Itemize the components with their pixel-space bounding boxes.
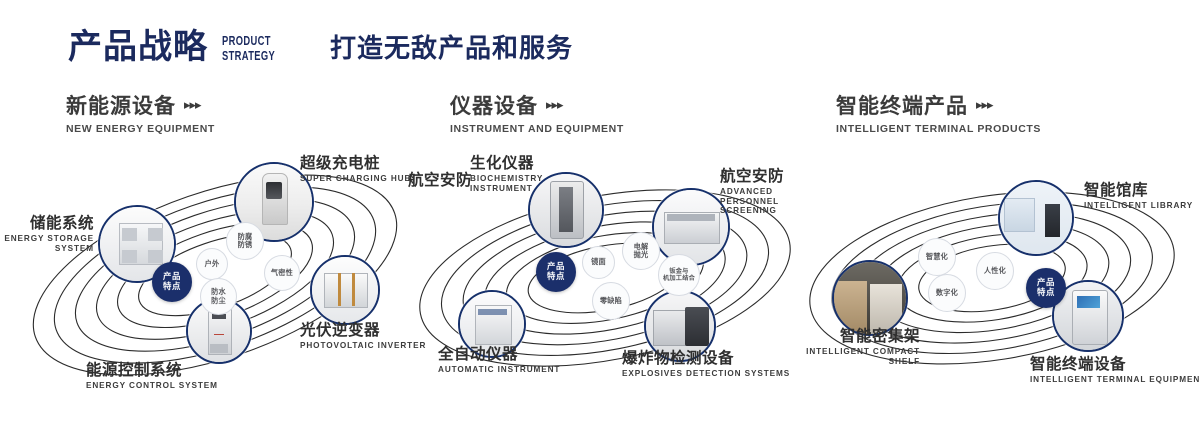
- label-intelligent-library: 智能馆库 INTELLIGENT LIBRARY: [1084, 182, 1193, 211]
- group-instruments: 航空安防 生化仪器 BIOCHEMISTRY INSTRUMENT 航空安防 A…: [400, 150, 820, 400]
- group-new-energy: 储能系统 ENERGY STORAGE SYSTEM 超级充电桩 SUPER C…: [0, 150, 430, 400]
- label-cn: 能源控制系统: [86, 362, 218, 379]
- label-en: AUTOMATIC INSTRUMENT: [438, 365, 560, 374]
- label-cn: 智能馆库: [1084, 182, 1193, 199]
- label-en: INTELLIGENT COMPACT SHELF: [796, 347, 920, 365]
- photovoltaic-inverter-photo: [312, 257, 378, 323]
- feature-line2: 抛光: [634, 250, 649, 259]
- label-automatic-instrument: 全自动仪器 AUTOMATIC INSTRUMENT: [438, 346, 560, 375]
- page-subtitle: 打造无敌产品和服务: [330, 36, 573, 62]
- label-cn: 生化仪器: [470, 155, 542, 172]
- label-en: INTELLIGENT LIBRARY: [1084, 201, 1193, 210]
- node-photovoltaic-inverter[interactable]: [310, 255, 380, 325]
- feature-line1: 户外: [205, 259, 220, 268]
- product-strategy-infographic: 产品战略 PRODUCT STRATEGY 打造无敌产品和服务 新能源设备▸▸▸…: [0, 0, 1200, 422]
- label-biochemistry-instrument: 生化仪器 BIOCHEMISTRY INSTRUMENT: [470, 155, 542, 193]
- label-en: INTELLIGENT TERMINAL EQUIPMENT: [1030, 375, 1200, 384]
- node-intelligent-compact-shelf[interactable]: [832, 260, 908, 336]
- section-title-new-energy: 新能源设备▸▸▸ NEW ENERGY EQUIPMENT: [66, 96, 215, 135]
- feature-line1: 气密性: [271, 268, 293, 277]
- page-title-english: PRODUCT STRATEGY: [222, 33, 275, 64]
- label-cn: 智能密集架: [796, 328, 920, 345]
- label-en: EXPLOSIVES DETECTION SYSTEMS: [622, 369, 790, 378]
- label-intelligent-terminal-equipment: 智能终端设备 INTELLIGENT TERMINAL EQUIPMENT: [1030, 356, 1200, 385]
- label-cn: 航空安防: [408, 172, 472, 189]
- feature-bubble-sheet-metal-machining[interactable]: 钣金与 机加工结合: [658, 254, 700, 296]
- label-aviation-security-left: 航空安防: [408, 172, 472, 189]
- feature-bubble-mirror-finish[interactable]: 镜面: [582, 246, 615, 279]
- section-title-en: INSTRUMENT AND EQUIPMENT: [450, 123, 624, 135]
- chevron-right-icon: ▸▸▸: [546, 97, 563, 113]
- section-title-cn: 仪器设备: [450, 96, 538, 117]
- chevron-right-icon: ▸▸▸: [976, 97, 993, 113]
- core-line2: 特点: [547, 271, 565, 281]
- feature-line2: 防锈: [238, 240, 253, 249]
- section-title-en: INTELLIGENT TERMINAL PRODUCTS: [836, 123, 1041, 135]
- label-cn: 爆炸物检测设备: [622, 350, 790, 367]
- core-line2: 特点: [163, 281, 181, 291]
- feature-bubble-anticorrosion[interactable]: 防腐 防锈: [226, 222, 264, 260]
- feature-bubble-digitalization[interactable]: 数字化: [928, 274, 966, 312]
- label-energy-storage-system: 储能系统 ENERGY STORAGE SYSTEM: [0, 215, 94, 253]
- personnel-screening-photo: [654, 190, 728, 264]
- label-en: BIOCHEMISTRY INSTRUMENT: [470, 174, 542, 192]
- feature-bubble-waterproof-dustproof[interactable]: 防水 防尘: [200, 278, 237, 315]
- feature-line2: 机加工结合: [663, 275, 695, 282]
- core-line1: 产品: [163, 271, 181, 281]
- label-cn: 储能系统: [0, 215, 94, 232]
- feature-core-product-highlights[interactable]: 产品 特点: [1026, 268, 1066, 308]
- feature-line2: 防尘: [211, 296, 226, 305]
- label-en: ENERGY CONTROL SYSTEM: [86, 381, 218, 390]
- feature-bubble-outdoor[interactable]: 户外: [196, 248, 228, 280]
- core-line1: 产品: [1037, 277, 1055, 287]
- core-line1: 产品: [547, 261, 565, 271]
- chevron-right-icon: ▸▸▸: [184, 97, 201, 113]
- feature-line1: 零缺陷: [600, 296, 622, 305]
- group-intelligent-terminal: 智能馆库 INTELLIGENT LIBRARY 智能密集架 INTELLIGE…: [800, 150, 1200, 400]
- label-intelligent-compact-shelf: 智能密集架 INTELLIGENT COMPACT SHELF: [796, 328, 920, 366]
- label-cn: 智能终端设备: [1030, 356, 1200, 373]
- feature-line1: 数字化: [936, 288, 958, 297]
- feature-bubble-electrolytic-polishing[interactable]: 电解 抛光: [622, 232, 660, 270]
- label-en: ENERGY STORAGE SYSTEM: [0, 234, 94, 252]
- intelligent-compact-shelf-photo: [834, 262, 906, 334]
- feature-line1: 钣金与: [669, 268, 688, 275]
- section-title-en: NEW ENERGY EQUIPMENT: [66, 123, 215, 135]
- label-explosives-detection: 爆炸物检测设备 EXPLOSIVES DETECTION SYSTEMS: [622, 350, 790, 379]
- label-en: SUPER CHARGING HUB: [300, 174, 411, 183]
- feature-line1: 人性化: [984, 266, 1006, 275]
- feature-bubble-zero-defect[interactable]: 零缺陷: [592, 282, 630, 320]
- label-super-charging-hub: 超级充电桩 SUPER CHARGING HUB: [300, 155, 411, 184]
- feature-line1: 镜面: [591, 257, 606, 266]
- intelligent-library-photo: [1000, 182, 1072, 254]
- section-title-cn: 智能终端产品: [836, 96, 968, 117]
- feature-bubble-intelligence[interactable]: 智慧化: [918, 238, 956, 276]
- node-personnel-screening[interactable]: [652, 188, 730, 266]
- section-title-instruments: 仪器设备▸▸▸ INSTRUMENT AND EQUIPMENT: [450, 96, 624, 135]
- page-title-english-line2: STRATEGY: [222, 48, 275, 63]
- feature-bubble-airtightness[interactable]: 气密性: [264, 255, 300, 291]
- page-title-english-line1: PRODUCT: [222, 33, 275, 48]
- page-title: 产品战略: [68, 30, 208, 64]
- label-cn: 全自动仪器: [438, 346, 560, 363]
- feature-core-product-highlights[interactable]: 产品 特点: [536, 252, 576, 292]
- feature-line1: 智慧化: [926, 252, 948, 261]
- section-title-intelligent-terminal: 智能终端产品▸▸▸ INTELLIGENT TERMINAL PRODUCTS: [836, 96, 1041, 135]
- node-intelligent-library[interactable]: [998, 180, 1074, 256]
- section-title-cn: 新能源设备: [66, 96, 176, 117]
- feature-bubble-humanization[interactable]: 人性化: [976, 252, 1014, 290]
- label-energy-control-system: 能源控制系统 ENERGY CONTROL SYSTEM: [86, 362, 218, 391]
- label-cn: 超级充电桩: [300, 155, 411, 172]
- feature-core-product-highlights[interactable]: 产品 特点: [152, 262, 192, 302]
- core-line2: 特点: [1037, 287, 1055, 297]
